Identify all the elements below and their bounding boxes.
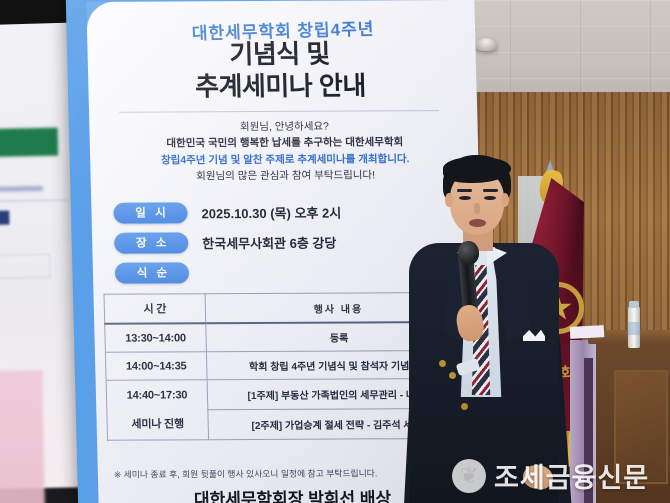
greeting-line-1: 회원님, 안녕하세요? [109,118,459,136]
row-3-time: 14:40~17:30 세미나 진행 [106,380,208,441]
presenter-eyebrow-left [457,189,472,192]
watermark-text: 조세금융신문 [494,456,649,495]
side-poster-block [0,211,9,225]
water-bottle-label [628,322,640,335]
presenter-button-2 [449,372,456,379]
info-label-venue: 장 소 [114,232,189,253]
presenter-button-3 [461,403,468,410]
table-header-time: 시 간 [104,294,206,324]
dome-camera-icon [475,38,497,51]
presenter-button-1 [439,360,446,367]
presenter-mouth [469,219,486,227]
presenter-ear-right [501,193,509,207]
presenter-nose [474,203,480,214]
presenter-ear-left [445,193,453,207]
presenter-eye-right [484,196,496,200]
presenter-eyebrow-right [483,189,498,192]
slide-title-line-2: 추계세미나 안내 [94,70,467,104]
slide-title: 기념식 및 추계세미나 안내 [93,38,467,103]
info-label-program: 식 순 [115,262,190,283]
greeting-line-2: 대한민국 국민의 행복한 납세를 추구하는 대한세무학회 [110,134,460,152]
side-poster-text-line [0,186,43,192]
side-poster-rule [0,199,67,201]
water-bottle-cap [629,301,639,308]
side-poster-box [0,254,50,279]
side-poster-pink-panel [0,370,45,503]
presenter [395,155,605,503]
info-label-date: 일 시 [113,202,188,223]
row-3-time-label: 세미나 진행 [109,415,205,431]
title-divider [119,110,439,113]
watermark-logo-icon: ❦ [452,459,486,493]
info-value-date: 2025.10.30 (목) 오후 2시 [201,202,341,222]
screenshot-root: 대한세무학회 창립4주년 기념식 및 추계세미나 안내 회원님, 안녕하세요? … [0,0,670,503]
row-1-time: 13:30~14:00 [105,323,207,352]
slide-title-line-1: 기념식 및 [93,38,466,72]
row-3-time-range: 14:40~17:30 [109,389,205,401]
row-2-time: 14:00~14:35 [105,352,207,381]
info-value-venue: 한국세무사회관 6층 강당 [202,232,337,252]
side-poster-green-band [0,128,58,157]
watermark: ❦ 조세금융신문 [452,456,649,495]
presenter-eye-left [459,196,471,200]
